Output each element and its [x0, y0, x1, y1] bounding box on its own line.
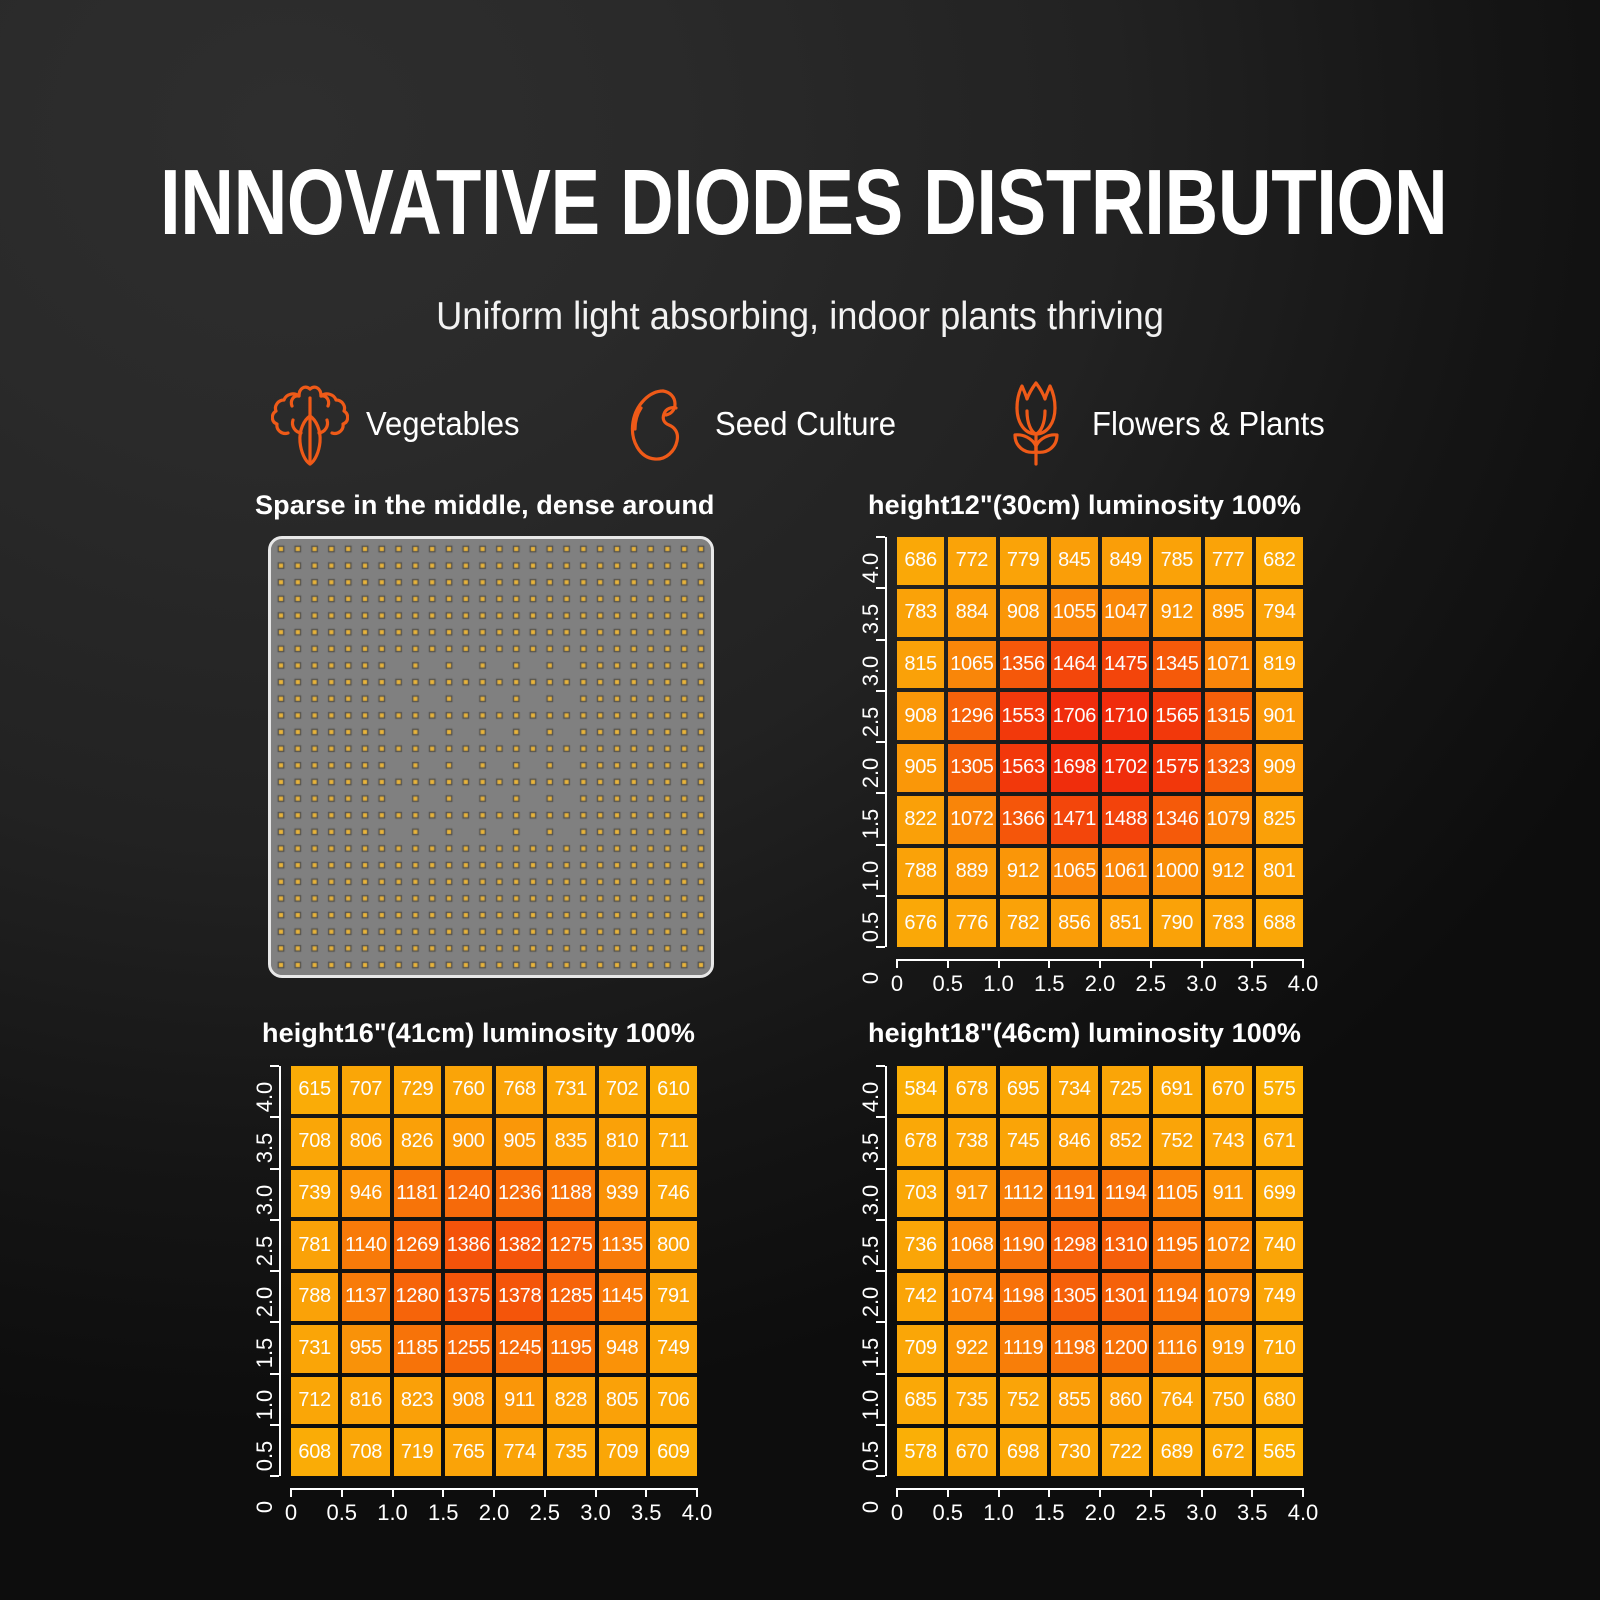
x-tick — [696, 1488, 698, 1497]
heatmap-cell: 801 — [1256, 848, 1303, 896]
heatmap-cell: 768 — [496, 1066, 543, 1114]
heatmap-cell: 1072 — [1205, 1221, 1252, 1269]
heatmap-cell: 946 — [342, 1170, 389, 1218]
heatmap-cell: 1119 — [1000, 1325, 1047, 1373]
heatmap-cell: 1198 — [1051, 1325, 1098, 1373]
heatmap-cell: 1565 — [1153, 692, 1200, 740]
x-tick — [1201, 1488, 1203, 1497]
heatmap-cell: 905 — [496, 1118, 543, 1166]
heatmap-cell: 1323 — [1205, 744, 1252, 792]
heatmap-cell: 1702 — [1102, 744, 1149, 792]
heatmap-cell: 749 — [650, 1325, 697, 1373]
heatmap-grid: 6157077297607687317026107088068269009058… — [291, 1066, 697, 1476]
x-tick-label: 4.0 — [1273, 1500, 1333, 1526]
heatmap-cell: 615 — [291, 1066, 338, 1114]
heatmap-cell: 1575 — [1153, 744, 1200, 792]
heatmap-cell: 1116 — [1153, 1325, 1200, 1373]
heatmap-cell: 1140 — [342, 1221, 389, 1269]
heatmap-cell: 672 — [1205, 1428, 1252, 1476]
heatmap-cell: 912 — [1153, 589, 1200, 637]
heatmap-cell: 1185 — [394, 1325, 441, 1373]
heatmap-cell: 706 — [650, 1377, 697, 1425]
heatmap-grid: 5846786957347256916705756787387458468527… — [897, 1066, 1303, 1476]
heatmap-cell: 1382 — [496, 1221, 543, 1269]
heatmap-cell: 670 — [948, 1428, 995, 1476]
heatmap-cell: 731 — [291, 1325, 338, 1373]
heatmap-cell: 860 — [1102, 1377, 1149, 1425]
heatmap-cell: 1255 — [445, 1325, 492, 1373]
heatmap-cell: 689 — [1153, 1428, 1200, 1476]
y-tick-label: 2.0 — [858, 743, 884, 803]
x-tick — [544, 1488, 546, 1497]
y-axis-line — [885, 537, 887, 947]
x-tick — [1150, 1488, 1152, 1497]
heatmap-cell: 1061 — [1102, 848, 1149, 896]
heatmap-cell: 1194 — [1153, 1273, 1200, 1321]
feature-label-vegetables: Vegetables — [366, 405, 520, 443]
heatmap-grid: 6867727798458497857776827838849081055104… — [897, 537, 1303, 947]
heatmap-cell: 794 — [1256, 589, 1303, 637]
heatmap-cell: 1305 — [948, 744, 995, 792]
heatmap-cell: 698 — [1000, 1428, 1047, 1476]
x-tick — [341, 1488, 343, 1497]
heatmap-cell: 855 — [1051, 1377, 1098, 1425]
heatmap-cell: 734 — [1051, 1066, 1098, 1114]
heatmap-cell: 819 — [1256, 641, 1303, 689]
heatmap-cell: 884 — [948, 589, 995, 637]
heatmap-cell: 711 — [650, 1118, 697, 1166]
x-tick — [645, 1488, 647, 1497]
heatmap-cell: 746 — [650, 1170, 697, 1218]
heatmap-cell: 695 — [1000, 1066, 1047, 1114]
feature-label-seed-culture: Seed Culture — [715, 405, 896, 443]
heatmap-cell: 922 — [948, 1325, 995, 1373]
heatmap-cell: 781 — [291, 1221, 338, 1269]
heatmap-cell: 760 — [445, 1066, 492, 1114]
y-tick-label: 3.0 — [858, 641, 884, 701]
y-axis-line — [279, 1066, 281, 1476]
heatmap-cell: 1296 — [948, 692, 995, 740]
heatmap-cell: 900 — [445, 1118, 492, 1166]
y-tick-label: 4.0 — [858, 1067, 884, 1127]
x-tick — [493, 1488, 495, 1497]
heatmap-cell: 1145 — [599, 1273, 646, 1321]
heatmap-cell: 1065 — [1051, 848, 1098, 896]
heatmap-cell: 816 — [342, 1377, 389, 1425]
heatmap-cell: 917 — [948, 1170, 995, 1218]
heatmap-cell: 702 — [599, 1066, 646, 1114]
heatmap-cell: 1301 — [1102, 1273, 1149, 1321]
heatmap-cell: 745 — [1000, 1118, 1047, 1166]
y-tick-label: 2.0 — [858, 1272, 884, 1332]
heatmap-cell: 835 — [547, 1118, 594, 1166]
heatmap-cell: 845 — [1051, 537, 1098, 585]
x-tick — [896, 959, 898, 968]
heatmap-cell: 846 — [1051, 1118, 1098, 1166]
heatmap-cell: 777 — [1205, 537, 1252, 585]
heatmap-cell: 731 — [547, 1066, 594, 1114]
heatmap-cell: 740 — [1256, 1221, 1303, 1269]
heatmap-cell: 584 — [897, 1066, 944, 1114]
heatmap-cell: 670 — [1205, 1066, 1252, 1114]
heatmap-cell: 806 — [342, 1118, 389, 1166]
y-tick-label: 0 — [858, 1477, 884, 1537]
heatmap-cell: 825 — [1256, 796, 1303, 844]
heatmap-cell: 1198 — [1000, 1273, 1047, 1321]
heatmap-cell: 1135 — [599, 1221, 646, 1269]
heatmap-cell: 710 — [1256, 1325, 1303, 1373]
heatmap-cell: 742 — [897, 1273, 944, 1321]
heatmap-cell: 703 — [897, 1170, 944, 1218]
x-tick — [1302, 1488, 1304, 1497]
heatmap-cell: 1356 — [1000, 641, 1047, 689]
x-tick — [947, 959, 949, 968]
heatmap-cell: 1240 — [445, 1170, 492, 1218]
heatmap-cell: 779 — [1000, 537, 1047, 585]
heatmap-cell: 852 — [1102, 1118, 1149, 1166]
heatmap-cell: 1563 — [1000, 744, 1047, 792]
heatmap-cell: 1553 — [1000, 692, 1047, 740]
heatmap-cell: 815 — [897, 641, 944, 689]
heatmap-cell: 1065 — [948, 641, 995, 689]
heatmap-cell: 948 — [599, 1325, 646, 1373]
heatmap-cell: 1079 — [1205, 796, 1252, 844]
heatmap-cell: 688 — [1256, 899, 1303, 947]
heatmap-cell: 691 — [1153, 1066, 1200, 1114]
heatmap-cell: 1190 — [1000, 1221, 1047, 1269]
heatmap-cell: 783 — [897, 589, 944, 637]
heatmap-cell: 1298 — [1051, 1221, 1098, 1269]
heatmap-cell: 676 — [897, 899, 944, 947]
heatmap-cell: 735 — [547, 1428, 594, 1476]
heatmap-cell: 749 — [1256, 1273, 1303, 1321]
heatmap-cell: 783 — [1205, 899, 1252, 947]
y-tick-label: 3.5 — [858, 1118, 884, 1178]
heatmap-cell: 1345 — [1153, 641, 1200, 689]
heatmap-cell: 1366 — [1000, 796, 1047, 844]
heatmap-cell: 911 — [1205, 1170, 1252, 1218]
heatmap-cell: 725 — [1102, 1066, 1149, 1114]
heatmap-cell: 912 — [1205, 848, 1252, 896]
heatmap-cell: 810 — [599, 1118, 646, 1166]
heatmap-cell: 680 — [1256, 1377, 1303, 1425]
heatmap-cell: 1047 — [1102, 589, 1149, 637]
x-tick — [1150, 959, 1152, 968]
heatmap-cell: 1275 — [547, 1221, 594, 1269]
heatmap-cell: 1181 — [394, 1170, 441, 1218]
feature-seed-culture: Seed Culture — [619, 378, 908, 470]
x-tick — [1302, 959, 1304, 968]
heatmap-cell: 849 — [1102, 537, 1149, 585]
heatmap-cell: 752 — [1153, 1118, 1200, 1166]
y-tick-label: 1.0 — [252, 1375, 278, 1435]
heatmap-cell: 1194 — [1102, 1170, 1149, 1218]
heatmap-cell: 1200 — [1102, 1325, 1149, 1373]
x-tick — [1201, 959, 1203, 968]
heatmap-cell: 800 — [650, 1221, 697, 1269]
led-panel — [268, 536, 714, 978]
heatmap-cell: 908 — [897, 692, 944, 740]
heatmap-cell: 1375 — [445, 1273, 492, 1321]
heatmap-cell: 1706 — [1051, 692, 1098, 740]
feature-flowers-plants: Flowers & Plants — [996, 378, 1340, 470]
heatmap-cell: 575 — [1256, 1066, 1303, 1114]
heatmap-cell: 901 — [1256, 692, 1303, 740]
heatmap-cell: 712 — [291, 1377, 338, 1425]
led-panel-heading: Sparse in the middle, dense around — [255, 490, 715, 521]
y-axis-line — [885, 1066, 887, 1476]
heatmap-heading-heatmap-16in: height16"(41cm) luminosity 100% — [262, 1018, 695, 1049]
heatmap-cell: 719 — [394, 1428, 441, 1476]
heatmap-cell: 1074 — [948, 1273, 995, 1321]
heatmap-cell: 752 — [1000, 1377, 1047, 1425]
heatmap-cell: 678 — [897, 1118, 944, 1166]
heatmap-cell: 735 — [948, 1377, 995, 1425]
heatmap-cell: 1378 — [496, 1273, 543, 1321]
y-tick-label: 4.0 — [858, 538, 884, 598]
heatmap-cell: 776 — [948, 899, 995, 947]
heatmap-cell: 610 — [650, 1066, 697, 1114]
y-tick-label: 2.0 — [252, 1272, 278, 1332]
feature-list: Vegetables Seed Culture — [270, 378, 1340, 470]
heatmap-cell: 578 — [897, 1428, 944, 1476]
y-tick-label: 3.0 — [252, 1170, 278, 1230]
heatmap-cell: 730 — [1051, 1428, 1098, 1476]
heatmap-cell: 1195 — [547, 1325, 594, 1373]
heatmap-cell: 1310 — [1102, 1221, 1149, 1269]
heatmap-cell: 685 — [897, 1377, 944, 1425]
heatmap-cell: 1068 — [948, 1221, 995, 1269]
heatmap-cell: 939 — [599, 1170, 646, 1218]
heatmap-cell: 1236 — [496, 1170, 543, 1218]
heatmap-cell: 919 — [1205, 1325, 1252, 1373]
heatmap-cell: 1195 — [1153, 1221, 1200, 1269]
heatmap-heading-heatmap-18in: height18"(46cm) luminosity 100% — [868, 1018, 1301, 1049]
heatmap-cell: 908 — [1000, 589, 1047, 637]
x-tick — [392, 1488, 394, 1497]
heatmap-cell: 788 — [897, 848, 944, 896]
heatmap-cell: 822 — [897, 796, 944, 844]
heatmap-cell: 774 — [496, 1428, 543, 1476]
heatmap-cell: 826 — [394, 1118, 441, 1166]
heatmap-cell: 1137 — [342, 1273, 389, 1321]
feature-vegetables: Vegetables — [270, 378, 529, 470]
x-tick — [442, 1488, 444, 1497]
heatmap-cell: 1105 — [1153, 1170, 1200, 1218]
tulip-icon — [996, 380, 1076, 468]
seed-icon — [619, 380, 699, 468]
y-tick-label: 3.5 — [858, 589, 884, 649]
heatmap-cell: 708 — [291, 1118, 338, 1166]
x-tick-label: 4.0 — [667, 1500, 727, 1526]
heatmap-cell: 1000 — [1153, 848, 1200, 896]
heatmap-cell: 851 — [1102, 899, 1149, 947]
heatmap-cell: 686 — [897, 537, 944, 585]
heatmap-cell: 1112 — [1000, 1170, 1047, 1218]
heatmap-cell: 671 — [1256, 1118, 1303, 1166]
y-tick-label: 0 — [858, 948, 884, 1008]
heatmap-cell: 722 — [1102, 1428, 1149, 1476]
heatmap-cell: 1072 — [948, 796, 995, 844]
heatmap-cell: 708 — [342, 1428, 389, 1476]
led-diode-grid — [271, 539, 711, 975]
x-tick-label: 4.0 — [1273, 971, 1333, 997]
heatmap-cell: 1245 — [496, 1325, 543, 1373]
heatmap-cell: 823 — [394, 1377, 441, 1425]
heatmap-cell: 699 — [1256, 1170, 1303, 1218]
heatmap-cell: 1055 — [1051, 589, 1098, 637]
heatmap-cell: 1071 — [1205, 641, 1252, 689]
heatmap-cell: 608 — [291, 1428, 338, 1476]
heatmap-cell: 565 — [1256, 1428, 1303, 1476]
heatmap-cell: 772 — [948, 537, 995, 585]
x-tick — [1251, 1488, 1253, 1497]
heatmap-cell: 738 — [948, 1118, 995, 1166]
y-tick-label: 0 — [252, 1477, 278, 1537]
heatmap-cell: 1471 — [1051, 796, 1098, 844]
y-tick-label: 1.0 — [858, 846, 884, 906]
heatmap-cell: 828 — [547, 1377, 594, 1425]
heatmap-cell: 1285 — [547, 1273, 594, 1321]
heatmap-cell: 1710 — [1102, 692, 1149, 740]
heatmap-cell: 729 — [394, 1066, 441, 1114]
y-tick-label: 1.0 — [858, 1375, 884, 1435]
x-tick — [1251, 959, 1253, 968]
x-tick — [1099, 1488, 1101, 1497]
heatmap-cell: 1315 — [1205, 692, 1252, 740]
heatmap-cell: 1079 — [1205, 1273, 1252, 1321]
heatmap-cell: 1191 — [1051, 1170, 1098, 1218]
x-tick — [290, 1488, 292, 1497]
heatmap-cell: 750 — [1205, 1377, 1252, 1425]
y-tick-label: 4.0 — [252, 1067, 278, 1127]
heatmap-cell: 709 — [897, 1325, 944, 1373]
page-title: INNOVATIVE DIODES DISTRIBUTION — [160, 155, 1440, 250]
heatmap-cell: 790 — [1153, 899, 1200, 947]
heatmap-cell: 764 — [1153, 1377, 1200, 1425]
heatmap-cell: 709 — [599, 1428, 646, 1476]
heatmap-cell: 895 — [1205, 589, 1252, 637]
y-tick-label: 1.5 — [252, 1323, 278, 1383]
heatmap-cell: 788 — [291, 1273, 338, 1321]
y-tick-label: 3.5 — [252, 1118, 278, 1178]
heatmap-cell: 1305 — [1051, 1273, 1098, 1321]
heatmap-cell: 1464 — [1051, 641, 1098, 689]
x-tick — [998, 959, 1000, 968]
heatmap-cell: 1346 — [1153, 796, 1200, 844]
heatmap-cell: 791 — [650, 1273, 697, 1321]
heatmap-cell: 912 — [1000, 848, 1047, 896]
broccoli-icon — [270, 380, 350, 468]
heatmap-cell: 1698 — [1051, 744, 1098, 792]
heatmap-cell: 785 — [1153, 537, 1200, 585]
x-tick — [1099, 959, 1101, 968]
x-tick — [1048, 1488, 1050, 1497]
heatmap-cell: 707 — [342, 1066, 389, 1114]
feature-label-flowers-plants: Flowers & Plants — [1092, 405, 1325, 443]
page-subtitle: Uniform light absorbing, indoor plants t… — [56, 295, 1544, 339]
heatmap-cell: 736 — [897, 1221, 944, 1269]
y-tick-label: 1.5 — [858, 1323, 884, 1383]
heatmap-cell: 743 — [1205, 1118, 1252, 1166]
heatmap-cell: 889 — [948, 848, 995, 896]
y-tick-label: 1.5 — [858, 794, 884, 854]
heatmap-cell: 909 — [1256, 744, 1303, 792]
x-tick — [1048, 959, 1050, 968]
heatmap-cell: 805 — [599, 1377, 646, 1425]
heatmap-cell: 1280 — [394, 1273, 441, 1321]
heatmap-cell: 905 — [897, 744, 944, 792]
heatmap-cell: 682 — [1256, 537, 1303, 585]
infographic-root: INNOVATIVE DIODES DISTRIBUTION Uniform l… — [0, 0, 1600, 1600]
heatmap-cell: 1188 — [547, 1170, 594, 1218]
heatmap-cell: 908 — [445, 1377, 492, 1425]
heatmap-cell: 911 — [496, 1377, 543, 1425]
heatmap-cell: 955 — [342, 1325, 389, 1373]
x-tick — [947, 1488, 949, 1497]
heatmap-cell: 609 — [650, 1428, 697, 1476]
x-tick — [595, 1488, 597, 1497]
heatmap-cell: 1386 — [445, 1221, 492, 1269]
heatmap-cell: 782 — [1000, 899, 1047, 947]
heatmap-cell: 765 — [445, 1428, 492, 1476]
x-tick — [896, 1488, 898, 1497]
heatmap-cell: 739 — [291, 1170, 338, 1218]
x-tick — [998, 1488, 1000, 1497]
heatmap-heading-heatmap-12in: height12"(30cm) luminosity 100% — [868, 490, 1301, 521]
y-tick-label: 3.0 — [858, 1170, 884, 1230]
heatmap-cell: 1475 — [1102, 641, 1149, 689]
heatmap-cell: 1269 — [394, 1221, 441, 1269]
heatmap-cell: 678 — [948, 1066, 995, 1114]
heatmap-cell: 856 — [1051, 899, 1098, 947]
heatmap-cell: 1488 — [1102, 796, 1149, 844]
